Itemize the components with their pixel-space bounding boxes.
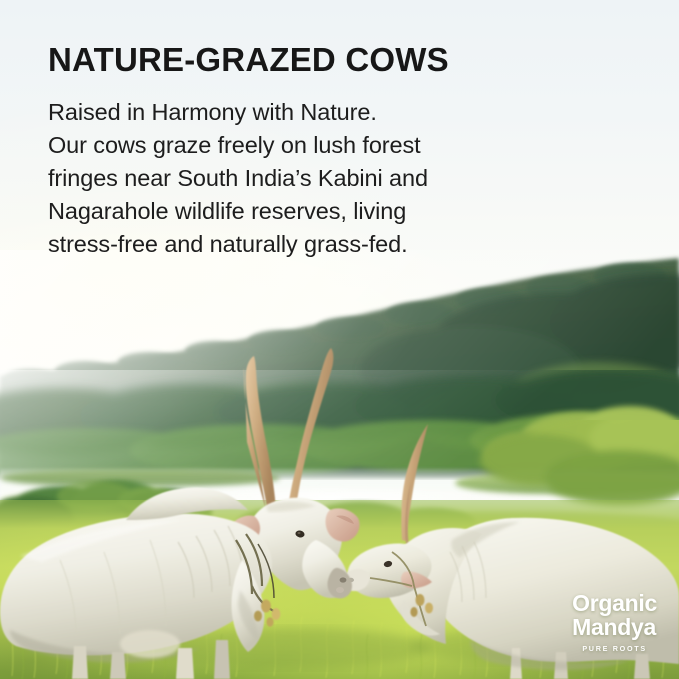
brand-name-line2: Mandya <box>572 616 657 639</box>
page-title: NATURE-GRAZED COWS <box>48 40 608 80</box>
body-line-5: stress-free and naturally grass-fed. <box>48 228 608 261</box>
text-block: NATURE-GRAZED COWS Raised in Harmony wit… <box>48 40 608 261</box>
brand-tagline: PURE ROOTS <box>572 644 657 653</box>
infographic-canvas: NATURE-GRAZED COWS Raised in Harmony wit… <box>0 0 679 679</box>
body-line-1: Raised in Harmony with Nature. <box>48 96 608 129</box>
brand-name-line1: Organic <box>572 592 657 615</box>
brand-logo: Organic Mandya PURE ROOTS <box>572 592 657 653</box>
body-line-2: Our cows graze freely on lush forest <box>48 129 608 162</box>
body-line-3: fringes near South India’s Kabini and <box>48 162 608 195</box>
body-line-4: Nagarahole wildlife reserves, living <box>48 195 608 228</box>
